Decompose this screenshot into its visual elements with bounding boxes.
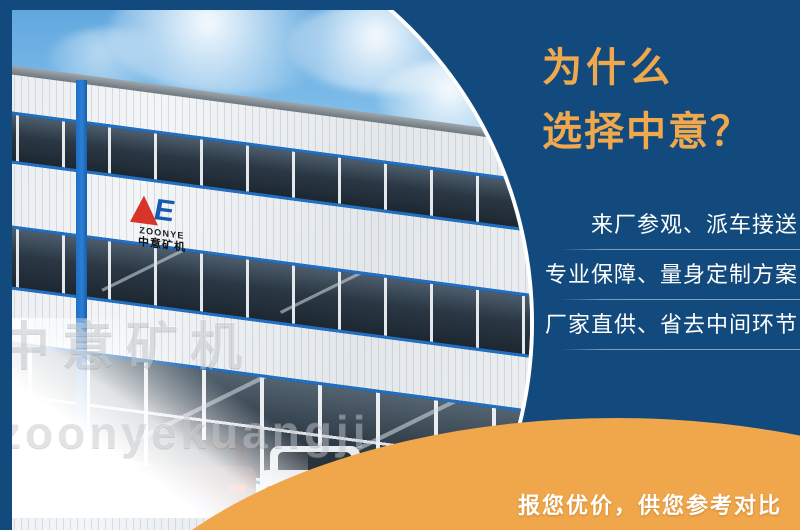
benefit-item-3-label: 厂家直供、省去中间环节 xyxy=(545,312,798,337)
benefit-item-2-label: 专业保障、量身定制方案 xyxy=(545,262,798,287)
headline-line-2: 选择中意？ xyxy=(542,100,800,164)
logo-letter-e: E xyxy=(154,195,174,228)
car-taillight xyxy=(230,484,246,493)
headline-line-1: 为什么 xyxy=(542,36,800,100)
text-column: 为什么 选择中意？ 来厂参观、派车接送 专业保障、量身定制方案 厂家直供、省去中… xyxy=(520,0,800,530)
left-frame-edge xyxy=(0,0,12,530)
benefit-item-2: 专业保障、量身定制方案 xyxy=(512,250,800,300)
benefit-item-1: 来厂参观、派车接送 xyxy=(512,200,800,250)
benefit-item-1-label: 来厂参观、派车接送 xyxy=(591,212,798,237)
company-logo: E ZOONYE 中意矿机 xyxy=(116,190,208,264)
car-taillight xyxy=(146,484,162,493)
building-corner-column xyxy=(76,80,87,510)
benefit-list: 来厂参观、派车接送 专业保障、量身定制方案 厂家直供、省去中间环节 xyxy=(512,200,800,350)
car-window xyxy=(158,446,236,468)
promo-banner: E ZOONYE 中意矿机 xyxy=(0,0,800,530)
benefit-separator xyxy=(560,349,800,350)
benefit-item-3: 厂家直供、省去中间环节 xyxy=(512,300,800,350)
ribbon-slogan: 报您优价，供您参考对比 xyxy=(500,488,800,520)
headline: 为什么 选择中意？ xyxy=(542,36,800,164)
top-frame-edge xyxy=(0,0,470,10)
car-license-plate xyxy=(184,498,212,507)
